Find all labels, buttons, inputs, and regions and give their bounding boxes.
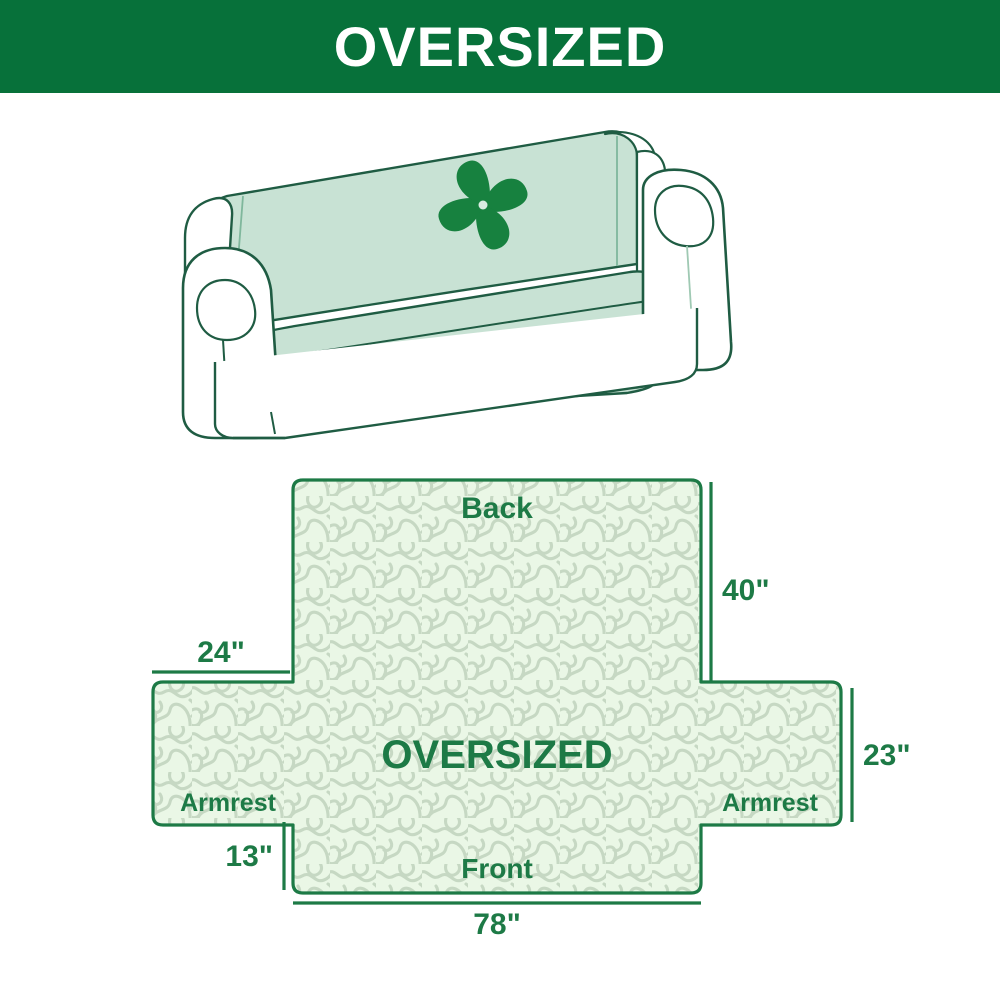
dimension-armrest-height-right-value: 23" [863,739,911,772]
flat-pattern-diagram: Back OVERSIZED Armrest Armrest Front 40"… [100,450,940,950]
dimension-armrest-drop-left: 13" [225,822,284,890]
dimension-back-height-value: 40" [722,574,770,607]
dimension-armrest-drop-left-value: 13" [225,840,273,873]
header-banner: OVERSIZED [0,0,1000,93]
cover-flat-outline [153,480,841,893]
dimension-back-height: 40" [711,482,770,682]
dimension-front-width: 78" [293,903,701,941]
label-armrest-right: Armrest [722,789,819,817]
label-front: Front [461,853,533,884]
dimension-armrest-height-right: 23" [852,688,911,822]
label-armrest-left: Armrest [180,789,277,817]
sofa-illustration [175,112,825,442]
dimension-armrest-depth-left-value: 24" [197,636,245,669]
label-back: Back [461,492,533,525]
dimension-armrest-depth-left: 24" [152,636,290,672]
label-oversized-center: OVERSIZED [381,733,612,777]
page-title: OVERSIZED [334,19,667,75]
dimension-front-width-value: 78" [473,908,521,941]
